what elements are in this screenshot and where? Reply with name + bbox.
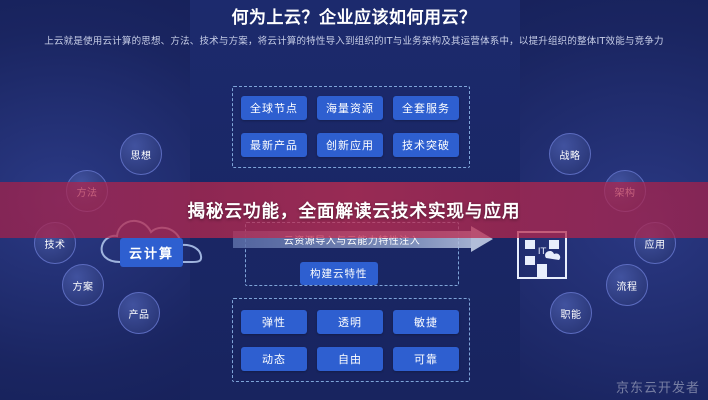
- svg-text:IT: IT: [538, 247, 547, 257]
- node-strategy[interactable]: 战略: [549, 133, 591, 175]
- chip-transparent[interactable]: 透明: [317, 310, 383, 334]
- node-process[interactable]: 流程: [606, 264, 648, 306]
- page-subtitle: 上云就是使用云计算的思想、方法、技术与方案，将云计算的特性导入到组织的IT与业务…: [0, 34, 708, 50]
- chip-reliable[interactable]: 可靠: [393, 347, 459, 371]
- chip-tech-breakthrough[interactable]: 技术突破: [393, 133, 459, 157]
- chip-build-cloud-traits[interactable]: 构建云特性: [300, 262, 378, 285]
- chip-full-service[interactable]: 全套服务: [393, 96, 459, 120]
- chip-global-node[interactable]: 全球节点: [241, 96, 307, 120]
- node-product[interactable]: 产品: [118, 292, 160, 334]
- node-solution[interactable]: 方案: [62, 264, 104, 306]
- overlay-headline: 揭秘云功能，全面解读云技术实现与应用: [188, 198, 521, 223]
- chip-elastic[interactable]: 弹性: [241, 310, 307, 334]
- node-thought[interactable]: 思想: [120, 133, 162, 175]
- page-title: 何为上云？企业应该如何用云？: [0, 4, 708, 32]
- watermark: 京东云开发者: [616, 377, 700, 396]
- node-function[interactable]: 职能: [550, 292, 592, 334]
- cloud-label: 云计算: [120, 238, 183, 267]
- overlay-banner: 揭秘云功能，全面解读云技术实现与应用: [0, 182, 708, 238]
- chip-innovative-app[interactable]: 创新应用: [317, 133, 383, 157]
- title-block: 何为上云？企业应该如何用云？ 上云就是使用云计算的思想、方法、技术与方案，将云计…: [0, 4, 708, 50]
- chip-dynamic[interactable]: 动态: [241, 347, 307, 371]
- chip-latest-product[interactable]: 最新产品: [241, 133, 307, 157]
- diagram-canvas: 何为上云？企业应该如何用云？ 上云就是使用云计算的思想、方法、技术与方案，将云计…: [0, 0, 708, 400]
- chip-agile[interactable]: 敏捷: [393, 310, 459, 334]
- chip-free[interactable]: 自由: [317, 347, 383, 371]
- chip-massive-resource[interactable]: 海量资源: [317, 96, 383, 120]
- watermark-text: 京东云开发者: [616, 381, 700, 396]
